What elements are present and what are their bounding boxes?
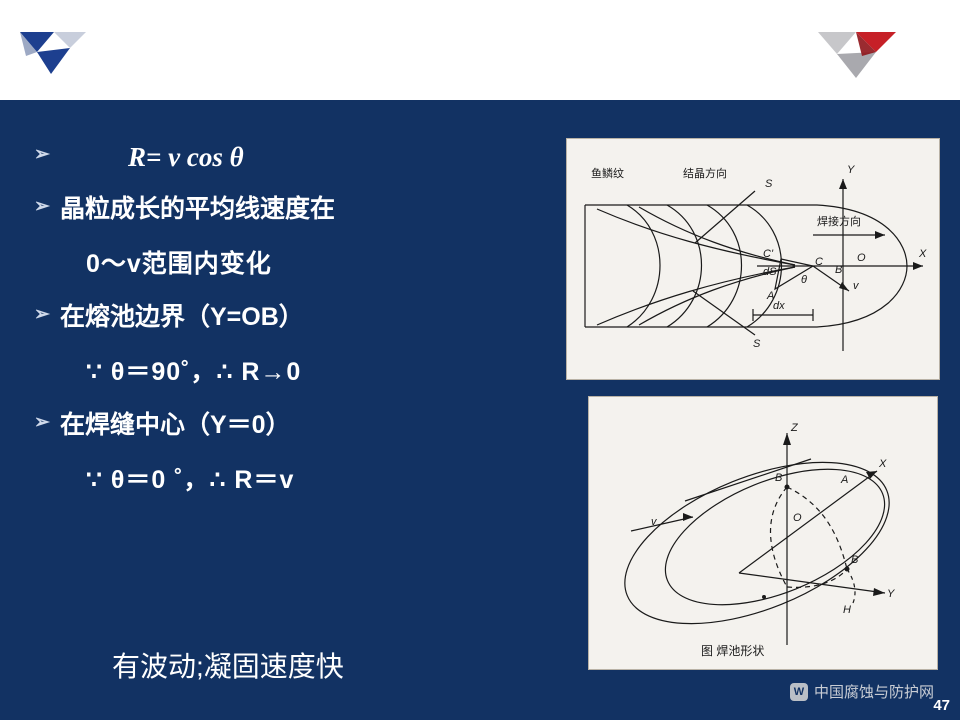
bullet-text-3: 在熔池边界（Y=OB） bbox=[60, 300, 304, 334]
bullet-subtext-3: ∵ θ＝90˚，∴ R→0 bbox=[86, 352, 554, 388]
label-s-bottom: S bbox=[753, 338, 761, 350]
figure2-caption: 图 焊池形状 bbox=[701, 643, 764, 658]
bullet-item-4: ➢ 在焊缝中心（Y＝0） bbox=[34, 408, 554, 442]
label-h: H bbox=[843, 604, 851, 616]
bullet-subtext-2: 0～v范围内变化 bbox=[86, 244, 554, 280]
label-origin: O bbox=[857, 252, 866, 264]
label-fish-scale: 鱼鳞纹 bbox=[591, 166, 624, 180]
label-s-top: S bbox=[765, 178, 773, 190]
wechat-logo-icon: W bbox=[790, 683, 808, 701]
bullet-item-2: ➢ 晶粒成长的平均线速度在 bbox=[34, 192, 554, 226]
watermark-text: 中国腐蚀与防护网 bbox=[814, 681, 934, 702]
label-theta: θ bbox=[801, 274, 807, 286]
label-b-top: B bbox=[775, 472, 782, 484]
bullet-list: ➢ R= v cos θ ➢ 晶粒成长的平均线速度在 0～v范围内变化 ➢ 在熔… bbox=[34, 140, 554, 516]
label-v: v bbox=[853, 280, 860, 292]
chevron-bullet-icon: ➢ bbox=[34, 140, 60, 170]
blue-triangle-logo bbox=[18, 26, 88, 78]
label-b-right: B bbox=[851, 554, 858, 566]
bullet-text-1: R= v cos θ bbox=[60, 140, 244, 174]
label-axis-x: X bbox=[918, 248, 927, 260]
label-b: B bbox=[835, 264, 842, 276]
chevron-bullet-icon: ➢ bbox=[34, 192, 60, 222]
label-dx: dx bbox=[773, 300, 785, 312]
label-welding-direction: 焊接方向 bbox=[817, 214, 861, 228]
bullet-text-4: 在焊缝中心（Y＝0） bbox=[60, 408, 291, 442]
watermark: W 中国腐蚀与防护网 bbox=[790, 681, 934, 702]
label-a: A bbox=[840, 474, 848, 486]
footnote-text: 有波动;凝固速度快 bbox=[112, 645, 344, 685]
chevron-bullet-icon: ➢ bbox=[34, 300, 60, 330]
header-rule bbox=[0, 100, 960, 104]
weld-pool-3d-figure: Z X Y O B A B H v 图 焊池形状 bbox=[588, 396, 938, 670]
label-axis-z: Z bbox=[790, 422, 799, 434]
label-crystal-direction: 结晶方向 bbox=[683, 166, 727, 180]
bullet-text-2: 晶粒成长的平均线速度在 bbox=[60, 192, 335, 226]
weld-pool-top-view-figure: 鱼鳞纹 结晶方向 焊接方向 S S Y X O C' C B A dS θ v … bbox=[566, 138, 940, 380]
label-origin: O bbox=[793, 512, 802, 524]
label-c-prime: C' bbox=[763, 248, 774, 260]
label-axis-y: Y bbox=[847, 164, 855, 176]
label-v: v bbox=[651, 516, 658, 528]
label-ds: dS bbox=[763, 266, 777, 278]
bullet-item-3: ➢ 在熔池边界（Y=OB） bbox=[34, 300, 554, 334]
label-c: C bbox=[815, 256, 823, 268]
slide-canvas: ➢ R= v cos θ ➢ 晶粒成长的平均线速度在 0～v范围内变化 ➢ 在熔… bbox=[0, 0, 960, 720]
label-axis-x: X bbox=[878, 458, 887, 470]
page-number: 47 bbox=[933, 697, 950, 714]
chevron-bullet-icon: ➢ bbox=[34, 408, 60, 438]
bullet-item-1: ➢ R= v cos θ bbox=[34, 140, 554, 174]
red-triangle-logo bbox=[816, 26, 900, 82]
label-axis-y: Y bbox=[887, 588, 895, 600]
bullet-subtext-4: ∵ θ＝0 ˚，∴ R＝v bbox=[86, 460, 554, 496]
